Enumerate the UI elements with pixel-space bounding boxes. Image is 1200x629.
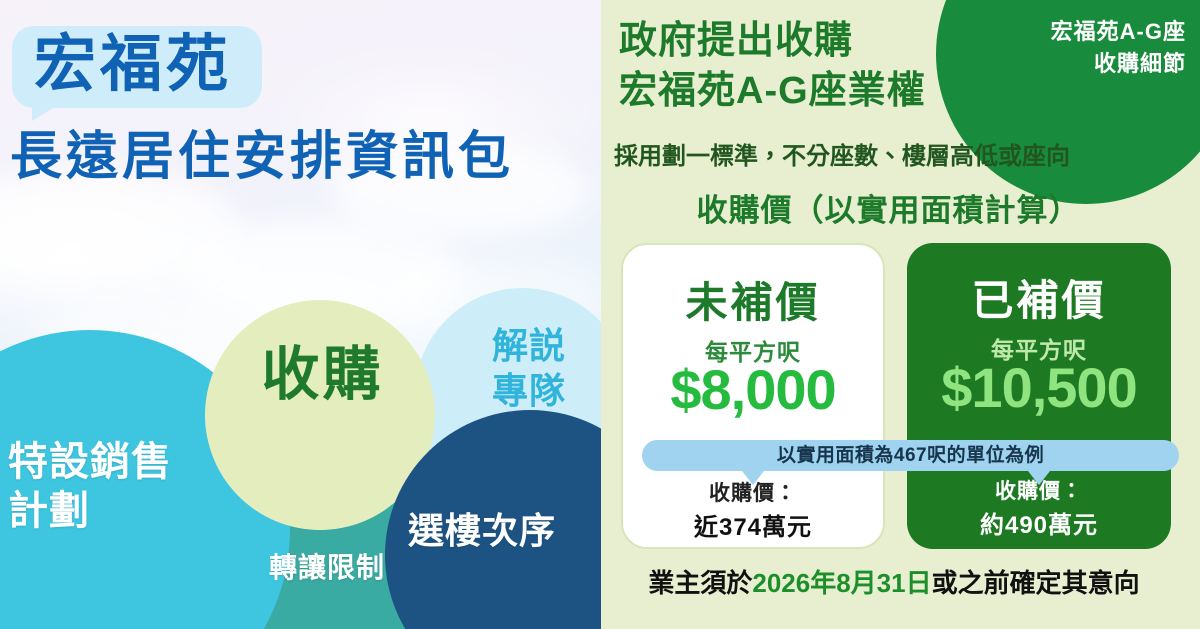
price-section-heading: 收購價（以實用面積計算） xyxy=(601,185,1176,230)
right-headline-line-1: 政府提出收購 xyxy=(619,16,1039,66)
right-subnote: 採用劃一標準，不分座數、樓層高低或座向 xyxy=(614,136,1174,171)
left-subtitle: 長遠居住安排資訊包 xyxy=(0,130,601,185)
estate-name-text: 宏福苑 xyxy=(34,34,232,96)
price-card-amount: $8,000 xyxy=(623,357,883,422)
circle-label-special-sales-plan: 特設銷售 計劃 xyxy=(8,438,233,536)
estate-name-bubble: 宏福苑 xyxy=(12,26,262,108)
left-title-block: 宏福苑 長遠居住安排資訊包 xyxy=(0,26,601,185)
price-card-foot-value: 約490萬元 xyxy=(907,505,1171,540)
deadline-notice-suffix: 或之前確定其意向 xyxy=(932,568,1140,598)
circle-label-transfer-restriction: 轉讓限制 xyxy=(232,553,422,582)
deadline-notice-prefix: 業主須於 xyxy=(648,568,752,598)
example-callout-text: 以實用面積為467呎的單位為例 xyxy=(642,440,1179,471)
price-card-unpaid-premium: 未補價 每平方呎 $8,000 收購價： 近374萬元 xyxy=(621,243,885,549)
price-card-foot-value: 近374萬元 xyxy=(623,507,883,542)
circle-label-acquisition: 收購 xyxy=(225,345,420,406)
right-headline-line-2: 宏福苑A-G座業權 xyxy=(619,66,1039,116)
right-headline: 政府提出收購 宏福苑A-G座業權 xyxy=(619,16,1039,116)
price-card-title: 已補價 xyxy=(907,267,1171,328)
deadline-notice: 業主須於2026年8月31日或之前確定其意向 xyxy=(601,563,1187,600)
left-panel: 特設銷售 計劃 收購 解説 專隊 轉讓限制 選樓次序 宏福苑 長遠居住安排資訊包 xyxy=(0,0,601,629)
price-card-title: 未補價 xyxy=(623,269,883,330)
price-card-amount: $10,500 xyxy=(907,355,1171,420)
circle-label-flat-selection-order: 選樓次序 xyxy=(408,512,601,550)
circle-label-explanation-team: 解説 專隊 xyxy=(464,323,594,413)
callout-pointer-icon xyxy=(1028,471,1050,485)
deadline-notice-date: 2026年8月31日 xyxy=(752,568,931,598)
price-card-paid-premium: 已補價 每平方呎 $10,500 收購價： 約490萬元 xyxy=(907,243,1171,549)
price-card-group: 未補價 每平方呎 $8,000 收購價： 近374萬元 已補價 每平方呎 $10… xyxy=(621,243,1181,549)
example-callout-bar: 以實用面積為467呎的單位為例 xyxy=(642,440,1179,471)
right-panel: 宏福苑A-G座 收購細節 政府提出收購 宏福苑A-G座業權 採用劃一標準，不分座… xyxy=(601,0,1200,629)
callout-pointer-icon xyxy=(742,471,764,485)
infographic-poster: 特設銷售 計劃 收購 解説 專隊 轉讓限制 選樓次序 宏福苑 長遠居住安排資訊包… xyxy=(0,0,1200,629)
